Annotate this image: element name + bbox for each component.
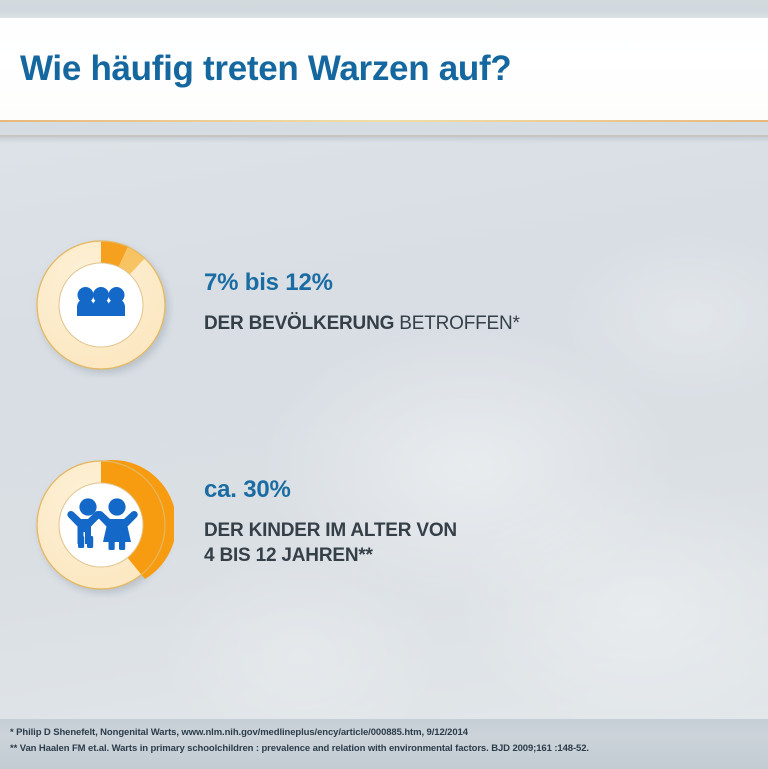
- infographic-root: Wie häufig treten Warzen auf?: [0, 0, 768, 769]
- children-text-block: ca. 30% DER KINDER IM ALTER VON 4 BIS 12…: [204, 478, 457, 572]
- orange-bar-highlight: [0, 120, 768, 122]
- children-stat-value: ca. 30%: [204, 478, 457, 502]
- population-desc-regular: BETROFFEN*: [399, 313, 519, 334]
- three-people-icon: [77, 287, 125, 316]
- top-gray-strip: [0, 0, 768, 18]
- children-donut-chart: [28, 452, 174, 598]
- children-desc-line1: DER KINDER IM ALTER VON: [204, 518, 457, 543]
- children-donut-center: [59, 483, 143, 567]
- header-band: Wie häufig treten Warzen auf?: [0, 18, 768, 120]
- stat-row-children: ca. 30% DER KINDER IM ALTER VON 4 BIS 12…: [28, 452, 457, 598]
- population-stat-value: 7% bis 12%: [204, 271, 520, 295]
- footnote-strip: * Philip D Shenefelt, Nongenital Warts, …: [0, 719, 768, 769]
- population-stat-description: DER BEVÖLKERUNG BETROFFEN*: [204, 311, 520, 336]
- body-top-edge-shadow: [0, 137, 768, 143]
- children-donut-svg: [28, 452, 174, 598]
- stat-row-population: 7% bis 12% DER BEVÖLKERUNG BETROFFEN*: [28, 232, 520, 378]
- population-desc-bold: DER BEVÖLKERUNG: [204, 313, 394, 334]
- population-donut-chart: [28, 232, 174, 378]
- population-text-block: 7% bis 12% DER BEVÖLKERUNG BETROFFEN*: [204, 271, 520, 340]
- children-desc-line2: 4 BIS 12 JAHREN**: [204, 543, 457, 568]
- population-donut-svg: [28, 232, 174, 378]
- body-background: [0, 137, 768, 719]
- page-title: Wie häufig treten Warzen auf?: [20, 49, 511, 89]
- footnote-1: * Philip D Shenefelt, Nongenital Warts, …: [10, 725, 768, 741]
- children-stat-description: DER KINDER IM ALTER VON 4 BIS 12 JAHREN*…: [204, 518, 457, 568]
- footnote-2: ** Van Haalen FM et.al. Warts in primary…: [10, 741, 768, 757]
